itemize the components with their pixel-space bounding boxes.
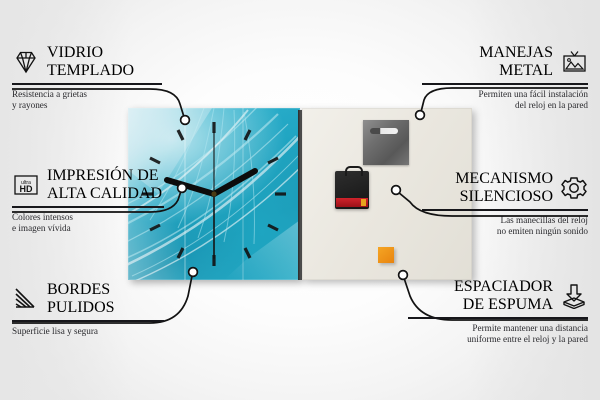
- callout-dot-manejas: [416, 111, 425, 120]
- callout-dot-bordes: [189, 268, 198, 277]
- feature-subtitle: Superficie lisa y segura: [12, 326, 164, 337]
- feature-subtitle: Resistencia a grietas y rayones: [12, 89, 162, 112]
- wall-frame-hanger-icon: [560, 49, 588, 75]
- feature-title-line1: MANEJAS: [479, 44, 553, 62]
- feature-bordes-pulidos: BORDES PULIDOS Superficie lisa y segura: [12, 281, 164, 337]
- callout-dot-impresion: [178, 184, 187, 193]
- feature-subtitle-line1: Las manecillas del reloj: [422, 215, 588, 226]
- feature-subtitle-line1: Permiten una fácil instalación: [422, 89, 588, 100]
- feature-subtitle-line1: Colores intensos: [12, 212, 164, 223]
- feature-title: VIDRIO TEMPLADO: [47, 44, 134, 80]
- feature-title: IMPRESIÓN DE ALTA CALIDAD: [47, 167, 162, 203]
- feature-subtitle-line1: Resistencia a grietas: [12, 89, 162, 100]
- feature-heading: BORDES PULIDOS: [12, 281, 164, 317]
- feature-divider: [422, 209, 588, 211]
- feature-title: MECANISMO SILENCIOSO: [455, 170, 553, 206]
- feature-title-line1: MECANISMO: [455, 170, 553, 188]
- feature-divider: [12, 206, 164, 208]
- feature-subtitle: Permite mantener una distancia uniforme …: [408, 323, 588, 346]
- feature-title-line1: BORDES: [47, 281, 115, 299]
- foam-spacer-arrow-icon: [560, 283, 588, 309]
- feature-heading: ultra HD IMPRESIÓN DE ALTA CALIDAD: [12, 167, 164, 203]
- feature-subtitle-line2: del reloj en la pared: [422, 100, 588, 111]
- feature-title: ESPACIADOR DE ESPUMA: [454, 278, 553, 314]
- feature-subtitle-line2: no emiten ningún sonido: [422, 226, 588, 237]
- diamond-icon: [12, 49, 40, 75]
- feature-subtitle: Permiten una fácil instalación del reloj…: [422, 89, 588, 112]
- feature-heading: MANEJAS METAL: [422, 44, 588, 80]
- feature-title-line2: METAL: [499, 62, 553, 80]
- gear-icon: [560, 175, 588, 201]
- callout-dot-mecanismo: [392, 186, 401, 195]
- feature-divider: [422, 83, 588, 85]
- feature-title-line2: ALTA CALIDAD: [47, 185, 162, 203]
- feature-title-line1: ESPACIADOR: [454, 278, 553, 296]
- feature-title-line2: DE ESPUMA: [463, 296, 553, 314]
- polished-edge-icon: [12, 286, 40, 312]
- feature-mecanismo-silencioso: MECANISMO SILENCIOSO Las manecillas del …: [422, 170, 588, 237]
- ultra-hd-icon: ultra HD: [12, 172, 40, 198]
- feature-title-line2: TEMPLADO: [47, 62, 134, 80]
- feature-subtitle: Colores intensos e imagen vívida: [12, 212, 164, 235]
- feature-manejas-metal: MANEJAS METAL Permiten una fácil instala…: [422, 44, 588, 111]
- infographic-canvas: VIDRIO TEMPLADO Resistencia a grietas y …: [0, 0, 600, 400]
- feature-title: MANEJAS METAL: [479, 44, 553, 80]
- feature-subtitle-line2: uniforme entre el reloj y la pared: [408, 334, 588, 345]
- feature-title-line1: IMPRESIÓN DE: [47, 167, 162, 185]
- feature-divider: [12, 320, 164, 322]
- feature-subtitle-line1: Superficie lisa y segura: [12, 326, 164, 337]
- ultra-hd-icon-big-label: HD: [20, 184, 33, 194]
- feature-vidrio-templado: VIDRIO TEMPLADO Resistencia a grietas y …: [12, 44, 162, 111]
- feature-title-line1: VIDRIO: [47, 44, 134, 62]
- callout-dot-vidrio-templado: [181, 116, 190, 125]
- feature-title-line2: SILENCIOSO: [460, 188, 553, 206]
- feature-espaciador-espuma: ESPACIADOR DE ESPUMA Permite mantener un…: [408, 278, 588, 345]
- feature-impresion-alta-calidad: ultra HD IMPRESIÓN DE ALTA CALIDAD Color…: [12, 167, 164, 234]
- callout-dot-espaciador: [399, 271, 408, 280]
- feature-heading: MECANISMO SILENCIOSO: [422, 170, 588, 206]
- feature-heading: VIDRIO TEMPLADO: [12, 44, 162, 80]
- feature-divider: [12, 83, 162, 85]
- feature-heading: ESPACIADOR DE ESPUMA: [408, 278, 588, 314]
- feature-subtitle: Las manecillas del reloj no emiten ningú…: [422, 215, 588, 238]
- feature-divider: [408, 317, 588, 319]
- feature-subtitle-line2: e imagen vívida: [12, 223, 164, 234]
- feature-title-line2: PULIDOS: [47, 299, 115, 317]
- feature-subtitle-line2: y rayones: [12, 100, 162, 111]
- feature-title: BORDES PULIDOS: [47, 281, 115, 317]
- feature-subtitle-line1: Permite mantener una distancia: [408, 323, 588, 334]
